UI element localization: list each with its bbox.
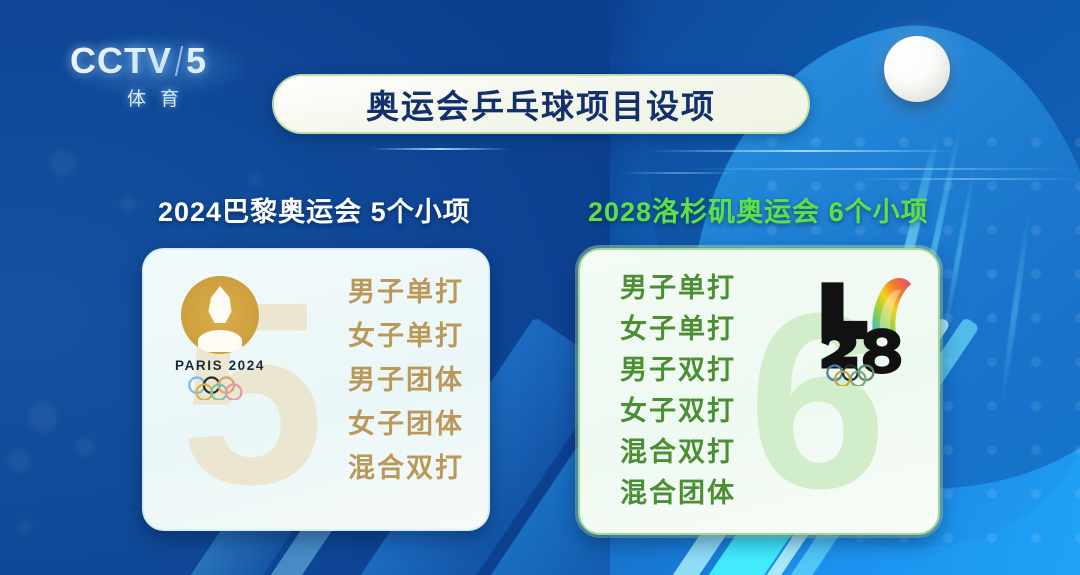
card-la-2028: 6 bbox=[578, 248, 940, 535]
paris-wordmark: PARIS 2024 bbox=[166, 358, 274, 373]
event-list-la: 男子单打 女子单打 男子双打 女子双打 混合双打 混合团体 bbox=[620, 266, 736, 510]
background-hairline bbox=[856, 178, 1080, 180]
event-item: 混合团体 bbox=[620, 471, 736, 510]
table-tennis-ball-icon bbox=[884, 36, 950, 102]
broadcast-graphic: CCTV 5 体育 奥运会乒乓球项目设项 2024巴黎奥运会 5个小项 2028… bbox=[0, 0, 1080, 575]
paris-2024-logo: PARIS 2024 bbox=[166, 276, 274, 394]
event-item: 男子双打 bbox=[620, 348, 736, 387]
logo-cctv-text: CCTV bbox=[70, 40, 172, 82]
event-item: 女子单打 bbox=[620, 307, 736, 346]
column-heading-paris: 2024巴黎奥运会 5个小项 bbox=[158, 190, 471, 229]
event-item: 男子团体 bbox=[348, 358, 464, 397]
column-heading-la: 2028洛杉矶奥运会 6个小项 bbox=[588, 190, 929, 229]
event-item: 女子双打 bbox=[620, 389, 736, 428]
event-item: 女子团体 bbox=[348, 402, 464, 441]
background-hairline bbox=[370, 148, 510, 150]
bokeh-dot bbox=[120, 196, 136, 212]
event-item: 混合双打 bbox=[348, 446, 464, 485]
logo-channel-number: 5 bbox=[186, 40, 207, 82]
event-item: 男子单打 bbox=[348, 270, 464, 309]
bokeh-dot bbox=[18, 520, 32, 534]
paris-flame-icon bbox=[181, 276, 259, 354]
event-item: 混合双打 bbox=[620, 430, 736, 469]
background-hairline bbox=[648, 150, 958, 152]
olympic-rings-icon bbox=[185, 376, 255, 400]
background-hairline bbox=[690, 168, 1070, 170]
bokeh-dot bbox=[28, 402, 58, 432]
page-title: 奥运会乒乓球项目设项 bbox=[366, 80, 716, 128]
title-banner: 奥运会乒乓球项目设项 bbox=[272, 74, 810, 134]
cctv5-logo: CCTV 5 体育 bbox=[70, 40, 240, 120]
event-item: 女子单打 bbox=[348, 314, 464, 353]
la28-logo bbox=[816, 274, 926, 386]
bokeh-dot bbox=[50, 150, 76, 176]
logo-divider bbox=[175, 46, 183, 76]
event-list-paris: 男子单打 女子单打 男子团体 女子团体 混合双打 bbox=[348, 270, 464, 485]
background-hairline bbox=[620, 172, 740, 174]
card-paris-2024: 5 PARIS 2024 男子单打 女子单打 男子团体 女子团体 混合双打 bbox=[142, 248, 490, 531]
logo-subtitle: 体育 bbox=[70, 84, 240, 111]
logo-wordmark: CCTV 5 bbox=[70, 40, 240, 82]
bokeh-dot bbox=[8, 450, 30, 472]
bokeh-dot bbox=[250, 174, 262, 186]
la28-mark-icon bbox=[816, 274, 926, 386]
bokeh-dot bbox=[76, 438, 94, 456]
event-item: 男子单打 bbox=[620, 266, 736, 305]
